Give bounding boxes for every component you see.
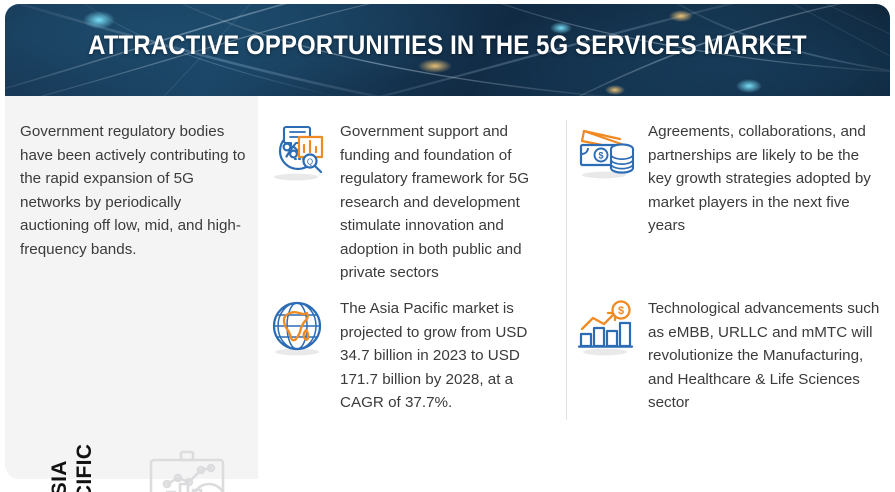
content-block-agreements: $ Agreements, collaborations, and partne…	[574, 119, 886, 238]
money-coins-icon: $	[574, 119, 638, 183]
percentage-analysis-icon: Q	[266, 119, 330, 183]
content-block-text: Agreements, collaborations, and partners…	[648, 119, 886, 238]
content-block-text: The Asia Pacific market is projected to …	[340, 296, 544, 415]
content-block-text: Technological advancements such as eMBB,…	[648, 296, 886, 415]
content-block-technological-advancements: $ Technological advancements such as eMB…	[574, 296, 886, 415]
svg-text:$: $	[598, 151, 603, 161]
content-block-government-support: Q Government support and funding and fou…	[266, 119, 544, 285]
page-title: ATTRACTIVE OPPORTUNITIES IN THE 5G SERVI…	[49, 30, 846, 61]
svg-text:$: $	[618, 305, 624, 317]
left-panel-paragraph: Government regulatory bodies have been a…	[20, 120, 246, 261]
region-label-line1: ASIA	[47, 460, 72, 492]
region-label-line2: PACIFIC	[72, 444, 97, 492]
content-block-text: Government support and funding and found…	[340, 119, 544, 285]
header-banner: ATTRACTIVE OPPORTUNITIES IN THE 5G SERVI…	[5, 4, 890, 96]
left-panel: Government regulatory bodies have been a…	[5, 96, 258, 479]
column-divider	[566, 120, 567, 420]
content-block-asia-pacific-market: The Asia Pacific market is projected to …	[266, 296, 544, 415]
presentation-chart-magnifier-icon	[133, 438, 241, 492]
svg-text:Q: Q	[307, 158, 313, 167]
region-label: ASIA PACIFIC	[12, 431, 132, 492]
infographic-container: ATTRACTIVE OPPORTUNITIES IN THE 5G SERVI…	[0, 0, 895, 492]
globe-icon	[266, 296, 330, 360]
growth-chart-dollar-icon: $	[574, 296, 638, 360]
